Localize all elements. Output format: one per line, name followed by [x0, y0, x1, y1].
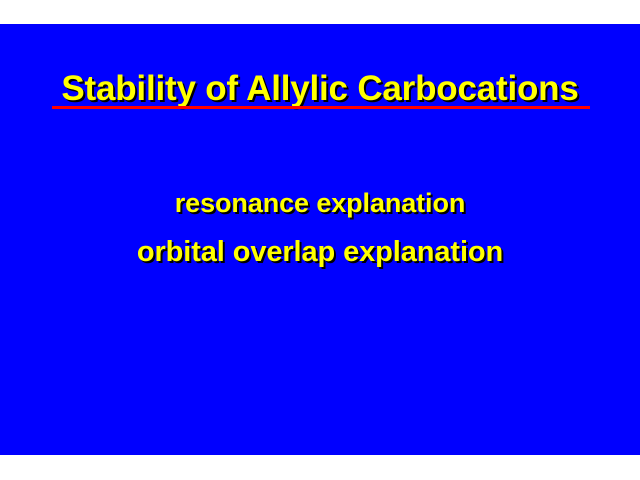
slide-title: Stability of Allylic Carbocations [0, 68, 640, 110]
slide-stage: Stability of Allylic Carbocations resona… [0, 0, 640, 480]
body-line-orbital-overlap: orbital overlap explanation [0, 234, 640, 270]
body-line-resonance: resonance explanation [0, 186, 640, 220]
slide-canvas: Stability of Allylic Carbocations resona… [0, 24, 640, 455]
title-divider-rule [52, 106, 590, 109]
slide-body-text: resonance explanation orbital overlap ex… [0, 186, 640, 270]
